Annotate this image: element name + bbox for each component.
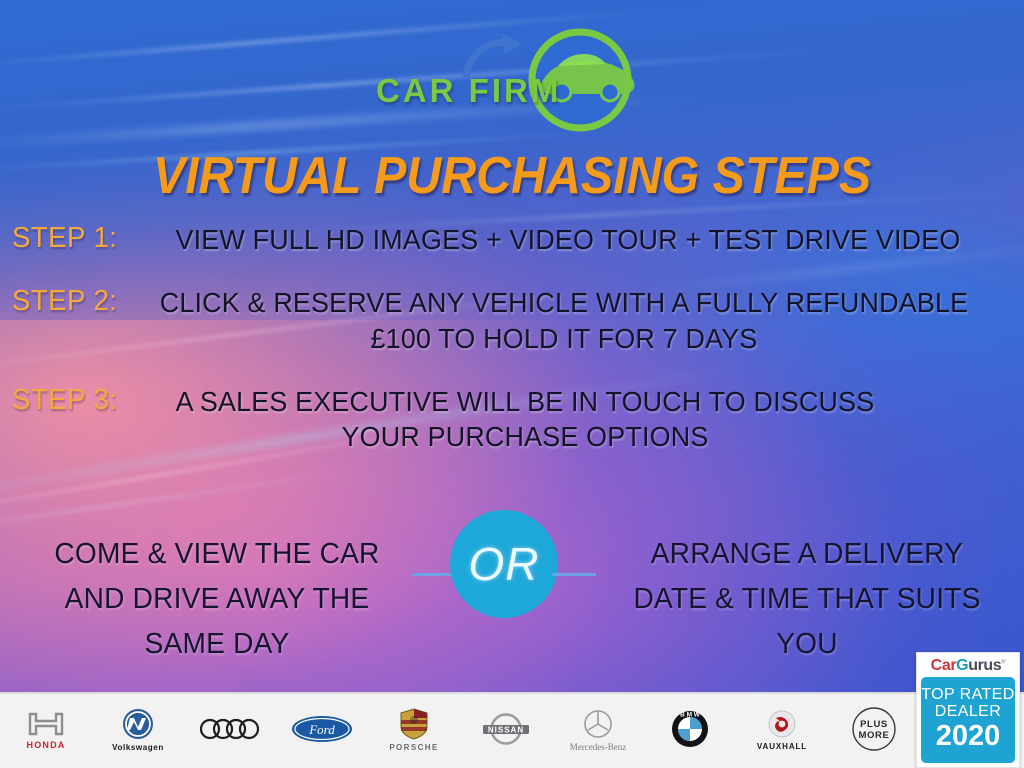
porsche-logo-icon [400, 708, 428, 740]
brand-nissan: NISSAN [460, 692, 552, 768]
brand-label: VAUXHALL [757, 742, 807, 751]
page-title: VIRTUAL PURCHASING STEPS [36, 146, 988, 206]
cargurus-line2: DEALER [935, 704, 1001, 720]
option-divider-right [552, 573, 596, 576]
or-label: OR [469, 537, 540, 591]
or-badge: OR [450, 510, 558, 618]
svg-text:B M W: B M W [680, 711, 701, 718]
brand-honda: HONDA [0, 692, 92, 768]
step-row: STEP 1: VIEW FULL HD IMAGES + VIDEO TOUR… [0, 222, 1024, 257]
brand-vauxhall: VAUXHALL [736, 692, 828, 768]
svg-text:MORE: MORE [859, 730, 890, 741]
brand-volkswagen: Volkswagen [92, 692, 184, 768]
brand-label: HONDA [27, 740, 66, 750]
cargurus-line1: TOP RATED [921, 687, 1014, 703]
plus-more-icon: PLUS MORE [851, 706, 897, 752]
ford-logo-icon: Ford [291, 715, 353, 743]
cargurus-award-box: TOP RATED DEALER 2020 [921, 677, 1015, 763]
svg-text:NISSAN: NISSAN [488, 725, 524, 734]
nissan-logo-icon: NISSAN [480, 713, 532, 745]
step-text: CLICK & RESERVE ANY VEHICLE WITH A FULLY… [151, 285, 977, 356]
audi-logo-icon [199, 717, 261, 741]
svg-text:PLUS: PLUS [860, 719, 888, 730]
delivery-options: COME & VIEW THE CAR AND DRIVE AWAY THE S… [0, 516, 1024, 636]
volkswagen-logo-icon [122, 708, 154, 740]
svg-text:Ford: Ford [308, 722, 335, 737]
step-row: STEP 2: CLICK & RESERVE ANY VEHICLE WITH… [0, 285, 1024, 356]
option-delivery-text: ARRANGE A DELIVERY DATE & TIME THAT SUIT… [618, 532, 996, 668]
brand-label: PORSCHE [389, 743, 438, 752]
cargurus-urus: urus [968, 657, 1001, 674]
brand-label: Mercedes-Benz [570, 742, 626, 752]
bmw-logo-icon: B M W [671, 710, 709, 748]
brand-audi [184, 692, 276, 768]
brand-plus-more: PLUS MORE [828, 692, 920, 768]
brand-porsche: PORSCHE [368, 692, 460, 768]
cargurus-trademark: ® [1001, 660, 1005, 666]
step-row: STEP 3: A SALES EXECUTIVE WILL BE IN TOU… [0, 384, 1024, 455]
step-text: VIEW FULL HD IMAGES + VIDEO TOUR + TEST … [151, 222, 984, 257]
brand-label: Volkswagen [112, 743, 164, 752]
logo-text: CAR FIRM [376, 72, 561, 110]
cargurus-year: 2020 [936, 721, 1001, 753]
promo-slide: CAR FIRM VIRTUAL PURCHASING STEPS STEP 1… [0, 0, 1024, 768]
step-label: STEP 1: [12, 222, 117, 255]
brand-mercedes: Mercedes-Benz [552, 692, 644, 768]
cargurus-car: Car [931, 657, 956, 674]
honda-logo-icon [24, 711, 68, 737]
cargurus-top-rated-badge: CarGurus® TOP RATED DEALER 2020 [916, 652, 1020, 768]
brand-bmw: B M W [644, 692, 736, 768]
step-label: STEP 3: [12, 384, 117, 417]
step-text: A SALES EXECUTIVE WILL BE IN TOUCH TO DI… [150, 384, 901, 455]
company-logo: CAR FIRM [370, 14, 670, 132]
option-collect-text: COME & VIEW THE CAR AND DRIVE AWAY THE S… [28, 532, 406, 668]
mercedes-logo-icon [583, 709, 613, 739]
brand-ford: Ford [276, 692, 368, 768]
vauxhall-logo-icon [767, 709, 797, 739]
step-label: STEP 2: [12, 285, 117, 318]
brand-logo-bar: HONDA Volkswagen Ford [0, 692, 1024, 768]
cargurus-wordmark: CarGurus® [931, 658, 1006, 674]
steps-list: STEP 1: VIEW FULL HD IMAGES + VIDEO TOUR… [0, 222, 1024, 468]
option-divider-left [412, 573, 456, 576]
cargurus-g: G [956, 657, 968, 674]
